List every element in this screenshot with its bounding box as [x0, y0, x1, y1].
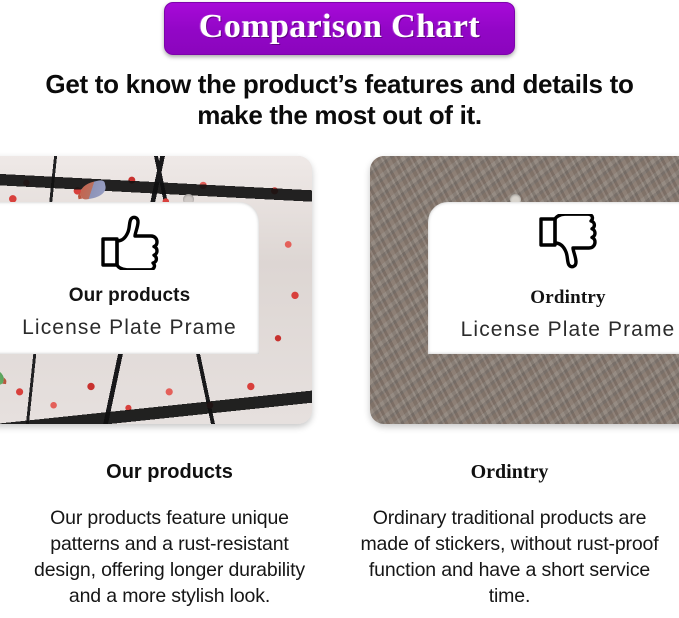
description-cell-ordinary: Ordintry Ordinary traditional products a…	[340, 460, 679, 609]
plate-label-ours: Our products	[69, 285, 191, 307]
product-comparison-row: Our products License Plate Prame Or	[0, 144, 679, 436]
product-cell-ours: Our products License Plate Prame	[0, 144, 339, 436]
license-plate-frame-ordinary: Ordintry License Plate Prame	[370, 156, 679, 424]
description-body-ours: Our products feature unique patterns and…	[20, 505, 320, 609]
description-cell-ours: Our products Our products feature unique…	[0, 460, 339, 609]
thumbs-down-icon	[537, 214, 599, 275]
thumbs-up-icon	[99, 214, 161, 275]
description-body-ordinary: Ordinary traditional products are made o…	[360, 505, 660, 609]
description-heading-ordinary: Ordintry	[340, 460, 679, 484]
description-heading-ours: Our products	[0, 460, 339, 484]
plate-window-ours: Our products License Plate Prame	[0, 202, 259, 354]
plate-sublabel-ours: License Plate Prame	[22, 316, 237, 340]
page-header: Comparison Chart Get to know the product…	[0, 0, 679, 131]
plate-label-ordinary: Ordintry	[530, 287, 606, 309]
page-subtitle: Get to know the product’s features and d…	[40, 69, 640, 131]
plate-sublabel-ordinary: License Plate Prame	[461, 318, 676, 342]
page-title: Comparison Chart	[199, 8, 480, 46]
license-plate-frame-ours: Our products License Plate Prame	[0, 156, 312, 424]
title-banner: Comparison Chart	[164, 2, 515, 55]
plate-window-ordinary: Ordintry License Plate Prame	[428, 202, 679, 354]
product-cell-ordinary: Ordintry License Plate Prame	[340, 144, 679, 436]
